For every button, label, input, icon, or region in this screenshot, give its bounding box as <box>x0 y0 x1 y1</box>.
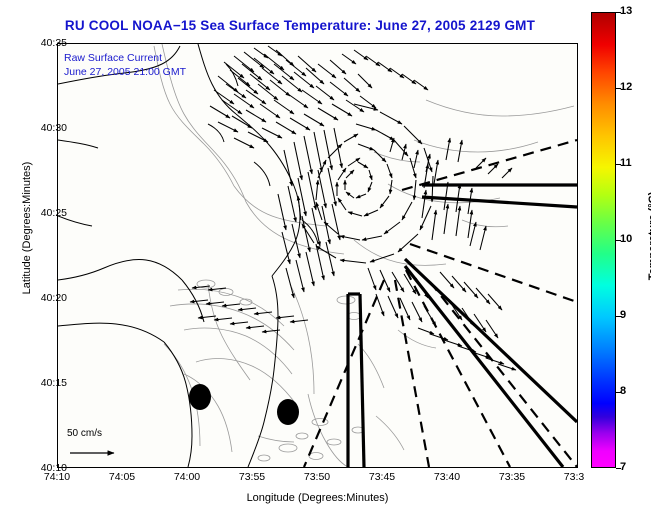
xtick-label-3: 73:55 <box>227 471 277 483</box>
map-graphics <box>58 44 577 467</box>
annotation-timestamp: June 27, 2005 21:00 GMT <box>64 66 186 78</box>
colorbar-tick-8: 8 <box>620 385 626 397</box>
colorbar-tick-7: 7 <box>620 461 626 473</box>
scale-key-label: 50 cm/s <box>67 428 102 439</box>
plot-area[interactable]: Raw Surface Current June 27, 2005 21:00 … <box>57 43 578 468</box>
radar-station-markers <box>189 384 299 425</box>
y-axis-label: Latitude (Degrees:Minutes) <box>21 113 33 343</box>
xtick-label-0: 74:10 <box>32 471 82 483</box>
colorbar-tick-11: 11 <box>620 157 632 169</box>
xtick-label-5: 73:45 <box>357 471 407 483</box>
xtick-label-1: 74:05 <box>97 471 147 483</box>
colorbar-tick-13: 13 <box>620 5 632 17</box>
surface-current-quiver <box>190 46 516 370</box>
colorbar-tick-9: 9 <box>620 309 626 321</box>
annotation-raw-surface-current: Raw Surface Current <box>64 52 162 64</box>
colorbar-tick-12: 12 <box>620 81 632 93</box>
ytick-label-0: 40:35 <box>21 37 67 49</box>
page-title: RU COOL NOAA−15 Sea Surface Temperature:… <box>0 18 600 33</box>
figure-canvas: RU COOL NOAA−15 Sea Surface Temperature:… <box>0 0 651 515</box>
colorbar-label: Temperature (°C) <box>647 166 651 306</box>
colorbar-tick-10: 10 <box>620 233 632 245</box>
xtick-label-4: 73:50 <box>292 471 342 483</box>
colorbar <box>591 12 616 468</box>
xtick-label-7: 73:35 <box>487 471 537 483</box>
xtick-label-8: 73:3 <box>549 471 599 483</box>
coastline <box>58 44 318 467</box>
xtick-label-2: 74:00 <box>162 471 212 483</box>
ytick-label-4: 40:15 <box>21 377 67 389</box>
x-axis-label: Longitude (Degrees:Minutes) <box>57 492 578 504</box>
xtick-label-6: 73:40 <box>422 471 472 483</box>
